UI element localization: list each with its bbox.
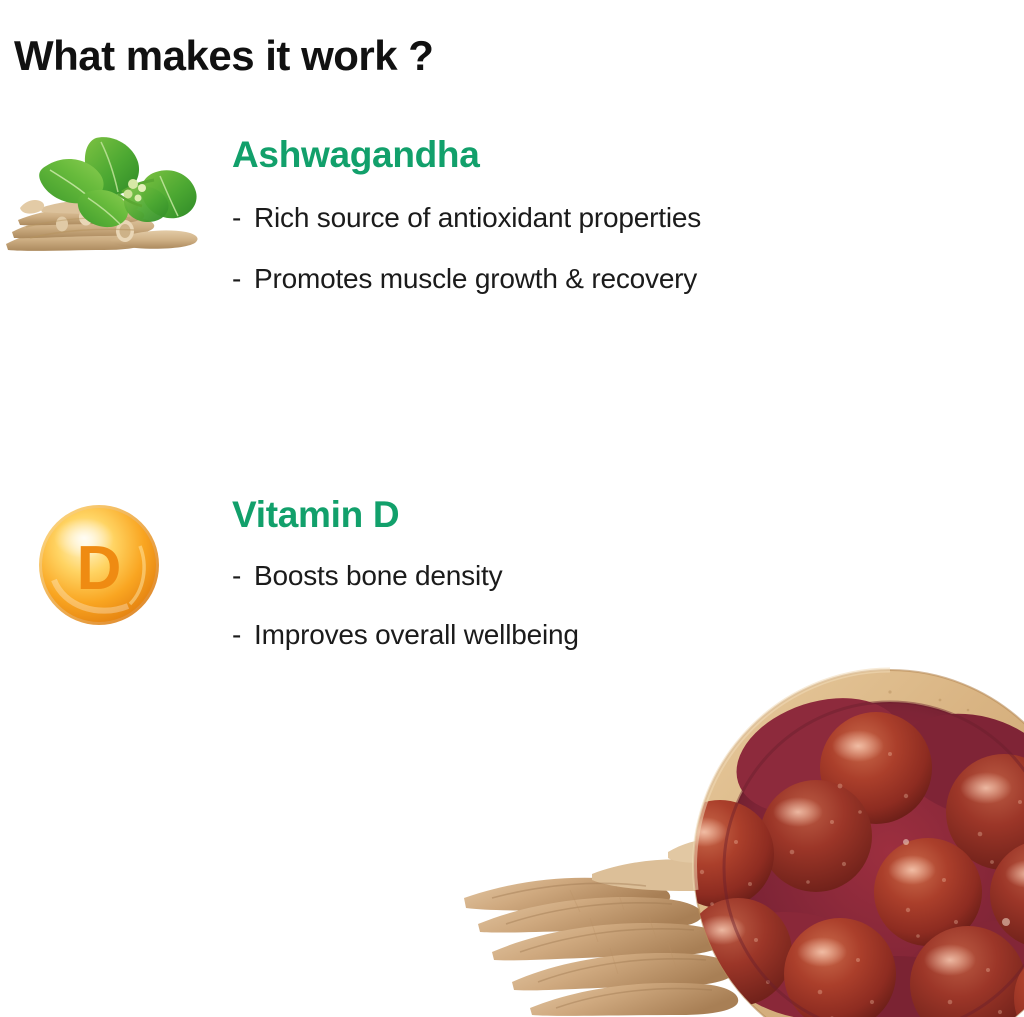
ingredient-name-ashwagandha: Ashwagandha [232,132,752,178]
product-photo-gummies-bowl [420,636,1024,1017]
page-title: What makes it work ? [14,32,433,80]
benefit-dash: - [232,615,254,656]
ashwagandha-root-icon [0,132,205,282]
vitamin-d-letter: D [77,534,122,603]
benefit-dash: - [232,198,254,239]
benefit-dash: - [232,259,254,300]
benefit-item: - Rich source of antioxidant properties [232,198,752,239]
benefit-item: - Boosts bone density [232,556,752,597]
ingredient-name-vitamin-d: Vitamin D [232,492,752,538]
wooden-bowl [666,670,1024,1017]
benefit-dash: - [232,556,254,597]
benefit-item: - Promotes muscle growth & recovery [232,259,752,300]
benefit-text: Promotes muscle growth & recovery [254,259,706,300]
ingredient-text-vitamin-d: Vitamin D - Boosts bone density - Improv… [232,492,752,656]
benefit-text: Rich source of antioxidant properties [254,198,706,239]
benefit-text: Boosts bone density [254,556,752,597]
vitamin-d-softgel-icon: D [36,502,162,628]
ingredient-text-ashwagandha: Ashwagandha - Rich source of antioxidant… [232,132,752,300]
benefit-list-ashwagandha: - Rich source of antioxidant properties … [232,198,752,300]
